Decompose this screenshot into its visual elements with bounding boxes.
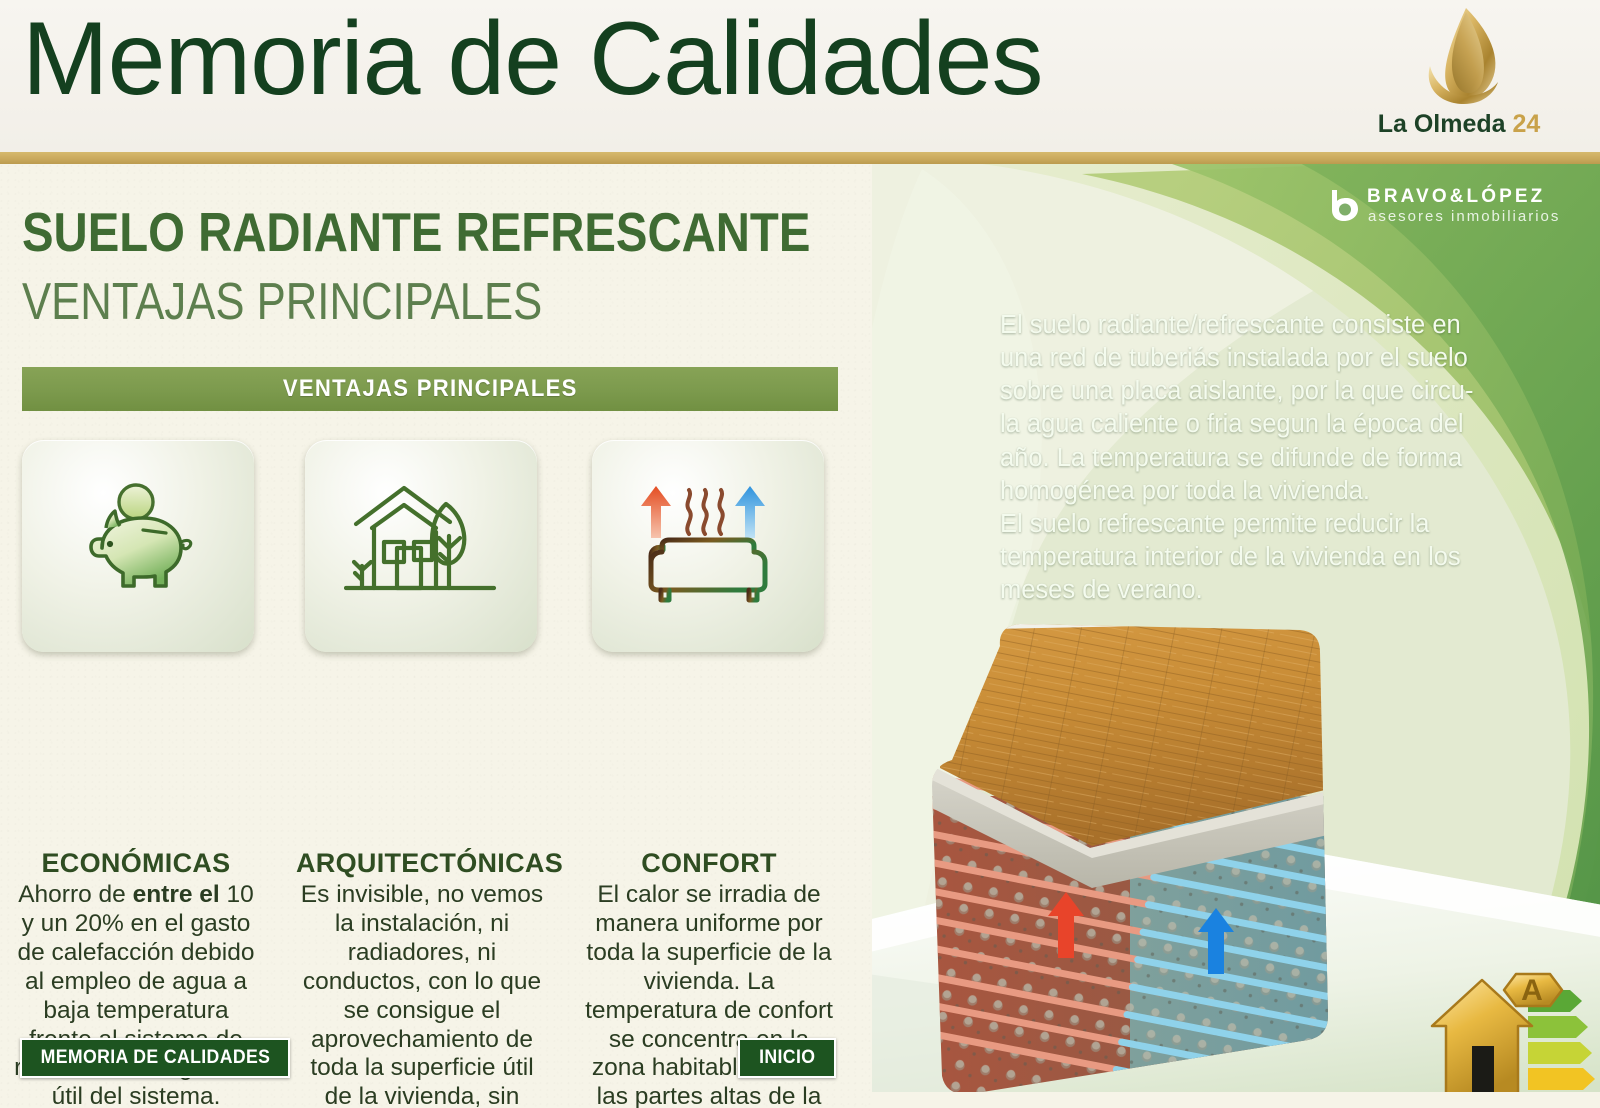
b-circle-icon	[1327, 188, 1361, 222]
brand-name-text: La Olmeda	[1378, 110, 1506, 138]
description-line-5: año. La temperatura se difunde de forma	[1000, 442, 1600, 475]
inicio-button[interactable]: INICIO	[738, 1038, 836, 1078]
column-body-bold: entre el	[133, 881, 220, 908]
column-body-pre: Ahorro de	[18, 881, 132, 908]
description-line-1: El suelo radiante/refrescante consiste e…	[1000, 309, 1600, 342]
card-economicas[interactable]	[22, 440, 254, 652]
agency-logo: BRAVO&LÓPEZ asesores inmobiliarios	[1327, 186, 1577, 232]
energy-rating-letter: A	[1521, 974, 1543, 1007]
right-illustration-panel: BRAVO&LÓPEZ asesores inmobiliarios El su…	[872, 164, 1600, 1108]
brand-name-number: 24	[1512, 110, 1540, 138]
advantages-banner: VENTAJAS PRINCIPALES	[22, 367, 838, 411]
page-title: Memoria de Calidades	[22, 7, 1043, 111]
energy-rating-house-icon: A	[1420, 954, 1595, 1108]
section-subheading: VENTAJAS PRINCIPALES	[22, 272, 542, 332]
card-confort[interactable]	[592, 440, 824, 652]
memoria-de-calidades-button[interactable]: MEMORIA DE CALIDADES	[20, 1038, 290, 1078]
column-body: Es invisible, no vemos la instalación, n…	[296, 881, 548, 1108]
house-tree-icon	[344, 476, 499, 616]
brand-name: La Olmeda 24	[1354, 110, 1564, 139]
column-arquitectonicas: ARQUITECTÓNICAS Es invisible, no vemos l…	[296, 848, 548, 1108]
agency-name: BRAVO&LÓPEZ	[1367, 186, 1545, 208]
memoria-button-label: MEMORIA DE CALIDADES	[40, 1047, 270, 1069]
page-header: Memoria de Calidades	[0, 0, 1600, 152]
sofa-heat-icon	[629, 476, 787, 616]
description-line-3: sobre una placa aislante, por la que cir…	[1000, 375, 1600, 408]
description-line-6: homogénea por toda la vivienda.	[1000, 475, 1600, 508]
column-title: ARQUITECTÓNICAS	[296, 848, 548, 879]
section-heading: SUELO RADIANTE REFRESCANTE	[22, 200, 810, 264]
left-content-panel: SUELO RADIANTE REFRESCANTE VENTAJAS PRIN…	[0, 164, 872, 1108]
icon-card-row	[0, 440, 872, 660]
advantages-banner-label: VENTAJAS PRINCIPALES	[283, 375, 578, 403]
brand-logo: La Olmeda 24	[1354, 4, 1564, 150]
slide-root: Memoria de Calidades	[0, 0, 1600, 1108]
description-line-2: una red de tuberiás instalada por el sue…	[1000, 342, 1600, 375]
column-title: CONFORT	[583, 848, 835, 879]
piggy-bank-icon	[63, 476, 213, 616]
description-line-9: meses de verano.	[1000, 574, 1600, 607]
leaf-flame-icon	[1406, 6, 1516, 111]
card-arquitectonicas[interactable]	[305, 440, 537, 652]
inicio-button-label: INICIO	[759, 1047, 815, 1069]
agency-tagline: asesores inmobiliarios	[1368, 208, 1560, 225]
description-line-8: temperatura interior de la vivienda en l…	[1000, 541, 1600, 574]
panel-bottom-strip	[872, 1092, 1600, 1108]
gold-divider	[0, 152, 1600, 164]
column-title: ECONÓMICAS	[10, 848, 262, 879]
description-line-4: la agua caliente o fria segun la época d…	[1000, 408, 1600, 441]
underfloor-heating-cross-section	[880, 616, 1350, 1108]
description-text: El suelo radiante/refrescante consiste e…	[1000, 309, 1600, 607]
description-line-7: El suelo refrescante permite reducir la	[1000, 508, 1600, 541]
